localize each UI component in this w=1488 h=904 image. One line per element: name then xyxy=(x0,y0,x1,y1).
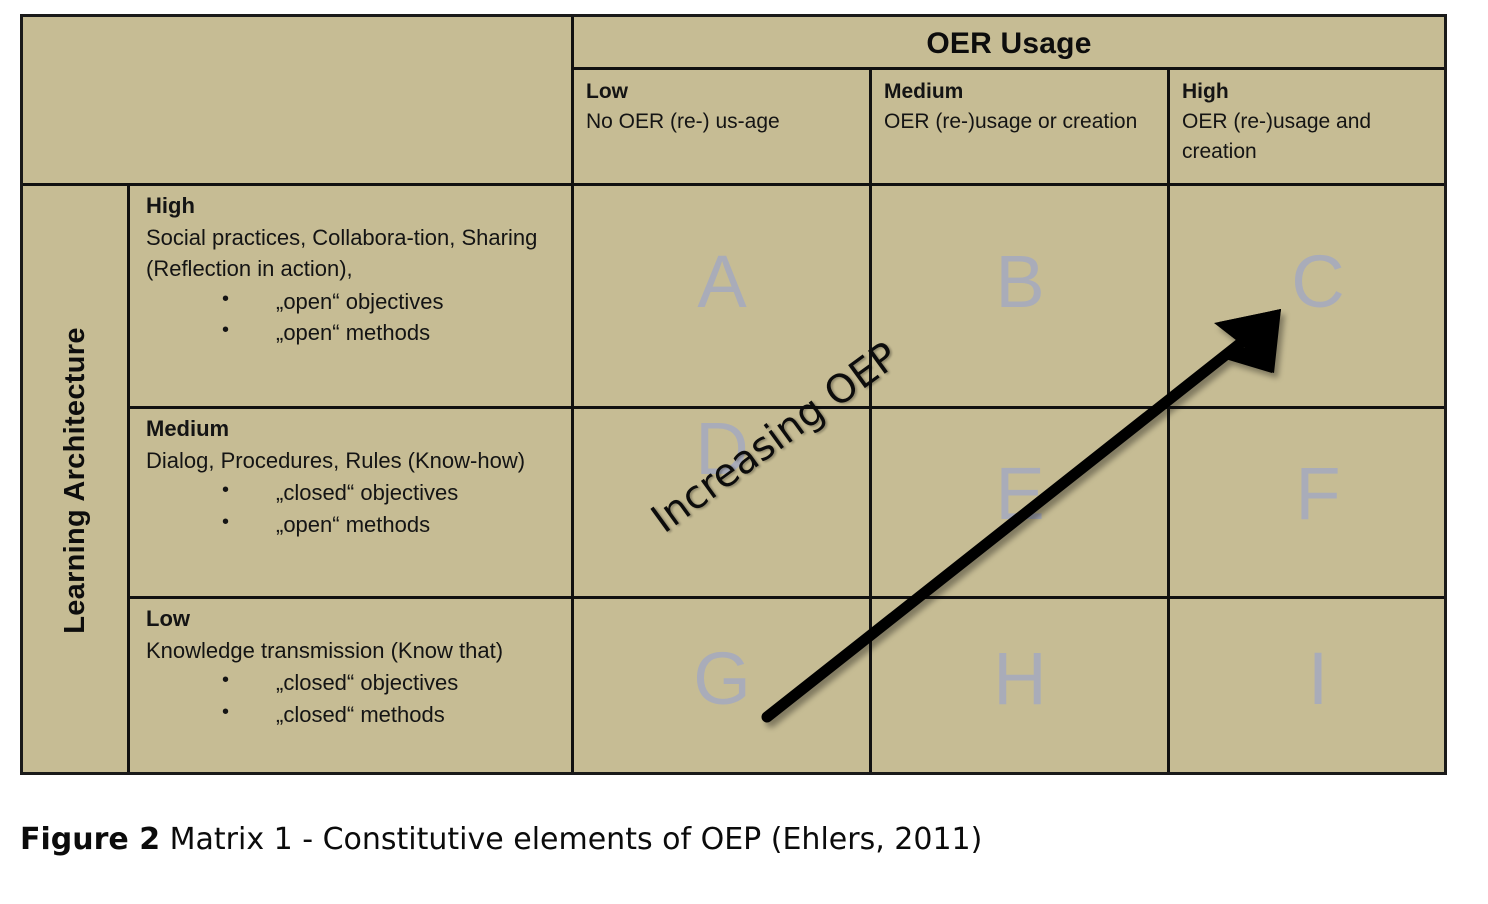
column-header-medium-desc: OER (re-)usage or creation xyxy=(884,107,1161,137)
row-axis-title-wrapper: Learning Architecture xyxy=(23,186,127,775)
row-axis-title: Learning Architecture xyxy=(59,327,92,634)
header-divider-line xyxy=(571,67,1444,70)
matrix-cell-I: I xyxy=(1170,642,1466,716)
figure-caption: Figure 2 Matrix 1 - Constitutive element… xyxy=(20,822,982,857)
list-item: „closed“ objectives xyxy=(222,477,568,508)
column-header-medium: Medium OER (re-)usage or creation xyxy=(872,75,1169,183)
column-header-high-desc: OER (re-)usage and creation xyxy=(1182,107,1436,167)
column-axis-title: OER Usage xyxy=(574,21,1444,67)
row-header-low-desc: Knowledge transmission (Know that) xyxy=(146,635,568,667)
row-header-medium-bullets: „closed“ objectives „open“ methods xyxy=(146,477,568,539)
column-header-high-title: High xyxy=(1182,77,1436,107)
figure-caption-label: Figure 2 xyxy=(20,822,160,857)
column-header-medium-title: Medium xyxy=(884,77,1161,107)
matrix-cell-G: G xyxy=(574,642,870,716)
row-header-low-bullets: „closed“ objectives „closed“ methods xyxy=(146,667,568,729)
list-item: „open“ methods xyxy=(222,317,568,348)
row-header-medium: Medium Dialog, Procedures, Rules (Know-h… xyxy=(130,409,574,596)
list-item: „closed“ objectives xyxy=(222,667,568,698)
matrix-cell-A: A xyxy=(574,245,870,319)
matrix-cell-F: F xyxy=(1170,457,1466,531)
row-header-low-title: Low xyxy=(146,603,568,635)
row-header-high-bullets: „open“ objectives „open“ methods xyxy=(146,286,568,348)
column-header-low-title: Low xyxy=(586,77,863,107)
oep-matrix-table: OER Usage Low No OER (re-) us-age Medium… xyxy=(20,14,1447,775)
column-header-low: Low No OER (re-) us-age xyxy=(574,75,871,183)
row-header-medium-desc: Dialog, Procedures, Rules (Know-how) xyxy=(146,445,568,477)
row-header-high: High Social practices, Collabora-tion, S… xyxy=(130,186,574,406)
list-item: „open“ objectives xyxy=(222,286,568,317)
figure-caption-text: Matrix 1 - Constitutive elements of OEP … xyxy=(160,822,982,857)
list-item: „closed“ methods xyxy=(222,699,568,730)
matrix-cell-E: E xyxy=(872,457,1168,531)
row-header-high-desc: Social practices, Collabora-tion, Sharin… xyxy=(146,222,568,285)
row-header-high-title: High xyxy=(146,190,568,222)
row-header-low: Low Knowledge transmission (Know that) „… xyxy=(130,599,574,772)
column-header-low-desc: No OER (re-) us-age xyxy=(586,107,863,137)
matrix-cell-H: H xyxy=(872,642,1168,716)
list-item: „open“ methods xyxy=(222,509,568,540)
matrix-cell-B: B xyxy=(872,245,1168,319)
figure-root: OER Usage Low No OER (re-) us-age Medium… xyxy=(0,0,1488,904)
row-header-medium-title: Medium xyxy=(146,413,568,445)
column-header-high: High OER (re-)usage and creation xyxy=(1170,75,1444,183)
matrix-cell-C: C xyxy=(1170,245,1466,319)
